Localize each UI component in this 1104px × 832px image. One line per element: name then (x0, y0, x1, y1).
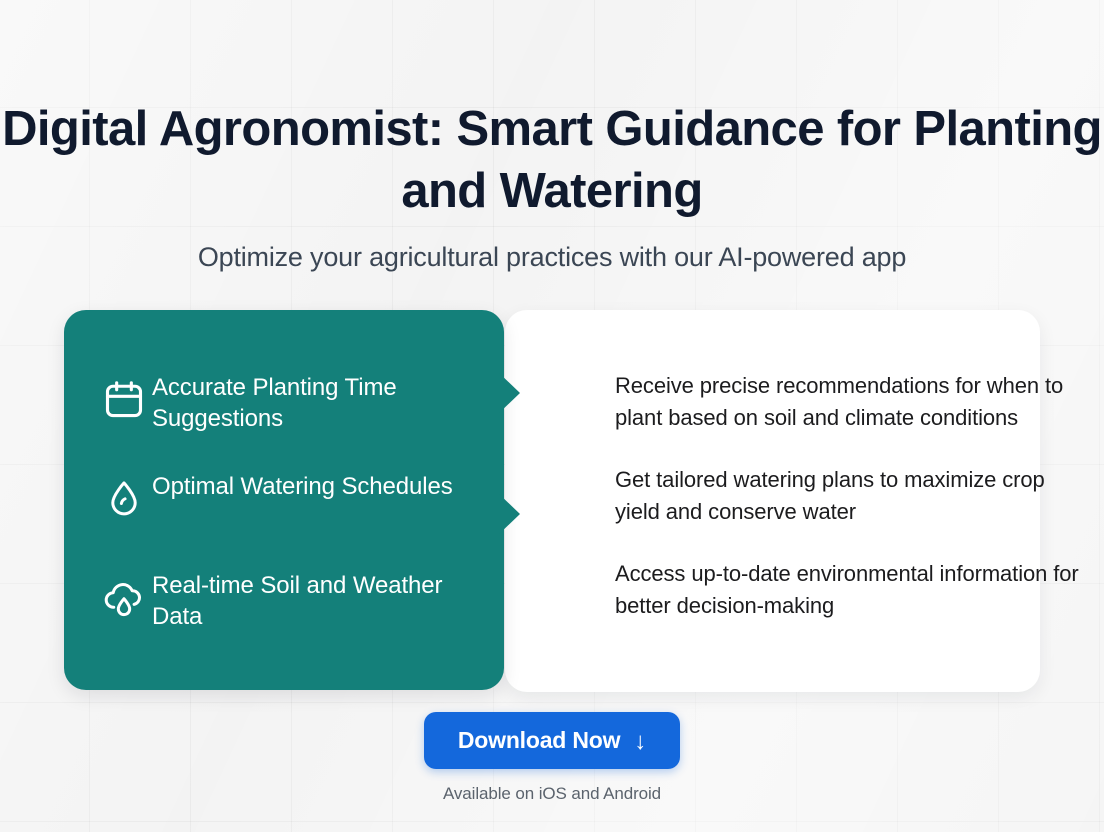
feature-item-planting-time[interactable]: Accurate Planting Time Suggestions (96, 370, 496, 438)
page-subtitle: Optimize your agricultural practices wit… (0, 240, 1104, 274)
description-list: Receive precise recommendations for when… (615, 370, 1085, 622)
header: Digital Agronomist: Smart Guidance for P… (0, 98, 1104, 274)
call-to-action: Download Now ↓ Available on iOS and Andr… (0, 712, 1104, 805)
feature-label: Real-time Soil and Weather Data (152, 568, 496, 632)
card-notch-arrow-1 (498, 372, 520, 414)
calendar-icon (96, 372, 152, 428)
download-arrow-icon: ↓ (634, 730, 646, 754)
card-notch-arrow-2 (498, 493, 520, 535)
page-title: Digital Agronomist: Smart Guidance for P… (0, 98, 1104, 222)
feature-cards: Accurate Planting Time Suggestions Optim… (64, 310, 1040, 692)
download-button-label: Download Now (458, 727, 620, 754)
download-now-button[interactable]: Download Now ↓ (424, 712, 680, 769)
water-drop-icon (96, 471, 152, 527)
feature-item-watering-schedules[interactable]: Optimal Watering Schedules (96, 469, 496, 537)
feature-list: Accurate Planting Time Suggestions Optim… (96, 370, 496, 636)
availability-note: Available on iOS and Android (0, 783, 1104, 805)
landing-page: Digital Agronomist: Smart Guidance for P… (0, 0, 1104, 832)
feature-description: Receive precise recommendations for when… (615, 370, 1085, 434)
cloud-rain-icon (96, 570, 152, 626)
feature-label: Accurate Planting Time Suggestions (152, 370, 496, 434)
feature-description: Access up-to-date environmental informat… (615, 558, 1085, 622)
feature-description: Get tailored watering plans to maximize … (615, 464, 1085, 528)
feature-item-soil-weather-data[interactable]: Real-time Soil and Weather Data (96, 568, 496, 636)
feature-label: Optimal Watering Schedules (152, 469, 453, 502)
